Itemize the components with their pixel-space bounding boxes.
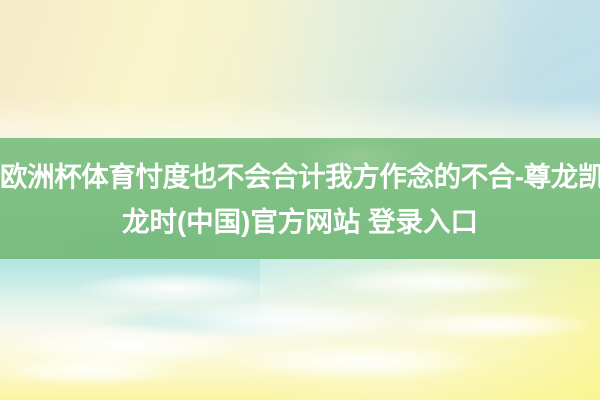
banner-title: 欧洲杯体育忖度也不会合计我方作念的不合-尊龙凯 龙时(中国)官方网站 登录入口 xyxy=(0,154,600,244)
title-band: 欧洲杯体育忖度也不会合计我方作念的不合-尊龙凯 龙时(中国)官方网站 登录入口 xyxy=(0,138,600,259)
sky-bottom-yellow-tint xyxy=(270,259,600,400)
banner-title-line-1: 欧洲杯体育忖度也不会合计我方作念的不合-尊龙凯 xyxy=(0,154,600,199)
sky-bottom-gradient xyxy=(0,259,600,400)
sky-bottom-cyan-tint xyxy=(0,259,260,329)
banner-image: 欧洲杯体育忖度也不会合计我方作念的不合-尊龙凯 龙时(中国)官方网站 登录入口 xyxy=(0,0,600,400)
sky-top-gradient xyxy=(0,0,600,138)
cloud-wisp xyxy=(0,355,180,385)
cloud-wisp xyxy=(10,325,240,365)
banner-title-line-2: 龙时(中国)官方网站 登录入口 xyxy=(0,199,600,244)
sky-top-fade xyxy=(0,98,600,138)
